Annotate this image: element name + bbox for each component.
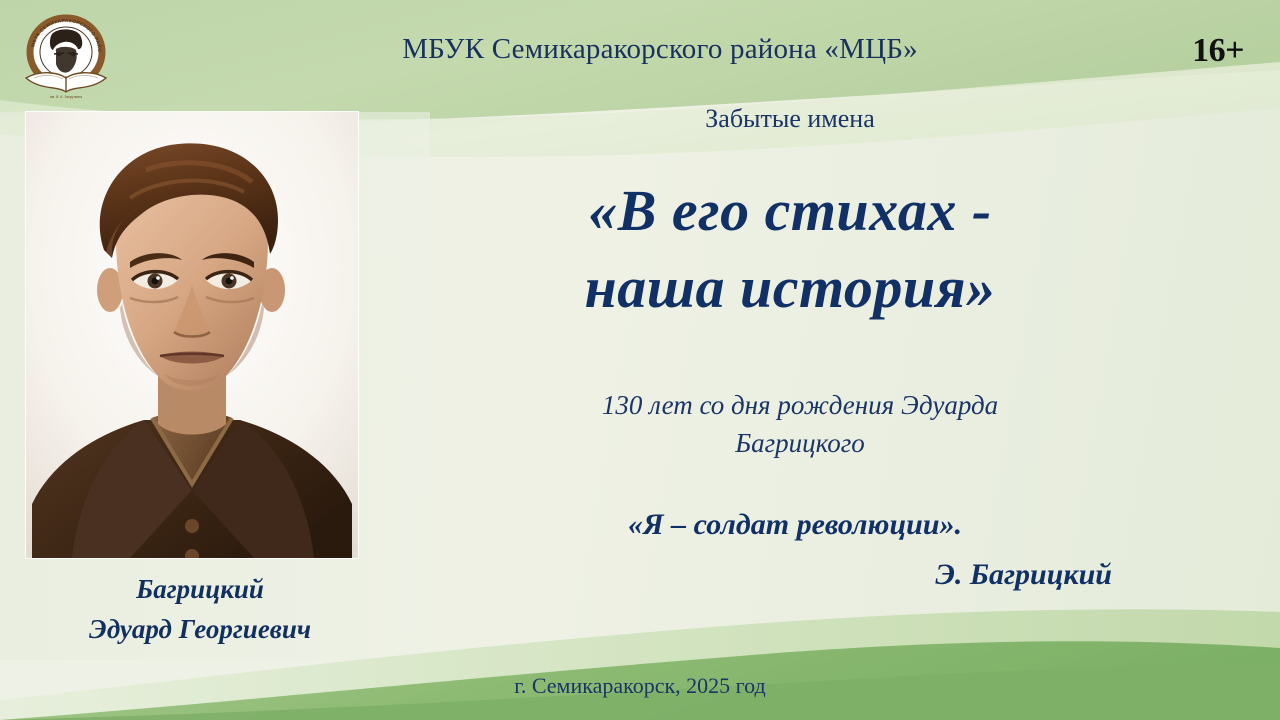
quote-text: «Я – солдат революции».	[470, 508, 1120, 542]
portrait-caption-line1: Багрицкий	[0, 570, 400, 610]
portrait-photo-bagritsky	[26, 112, 358, 558]
main-title-line1: «В его стихах -	[430, 172, 1150, 249]
subtitle-line1: 130 лет со дня рождения Эдуарда	[470, 386, 1130, 424]
subtitle: 130 лет со дня рождения Эдуарда Багрицко…	[470, 386, 1130, 463]
main-title: «В его стихах - наша история»	[430, 172, 1150, 326]
library-emblem-icon: МБУК СЕМИКАРАКОРСКОГО РАЙОНА МЦБ им. В. …	[18, 14, 114, 100]
footer-place-year: г. Семикаракорск, 2025 год	[340, 673, 940, 699]
svg-text:им. В. А. Закруткина: им. В. А. Закруткина	[50, 95, 82, 99]
organization-title: МБУК Семикаракорского района «МЦБ»	[200, 33, 1120, 66]
age-rating-badge: 16+	[1192, 32, 1244, 70]
kicker-text: Забытые имена	[440, 104, 1140, 134]
portrait-photo	[26, 112, 358, 558]
main-title-line2: наша история»	[430, 249, 1150, 326]
portrait-caption-line2: Эдуард Георгиевич	[0, 610, 400, 650]
subtitle-line2: Багрицкого	[470, 424, 1130, 462]
portrait-caption: Багрицкий Эдуард Георгиевич	[0, 570, 400, 650]
quote-author: Э. Багрицкий	[470, 558, 1112, 592]
poster-canvas: МБУК СЕМИКАРАКОРСКОГО РАЙОНА МЦБ им. В. …	[0, 0, 1280, 720]
